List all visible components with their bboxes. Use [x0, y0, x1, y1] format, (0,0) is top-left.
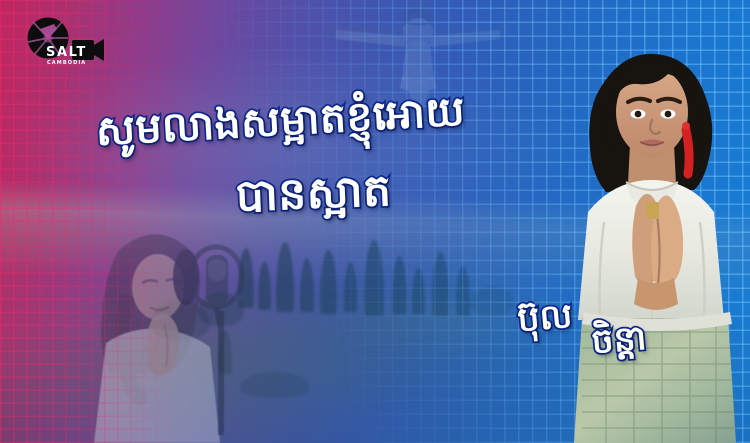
- salt-cambodia-logo[interactable]: SALT CAMBODIA: [16, 16, 116, 70]
- artist-name-line-2: ចិន្តា: [590, 316, 649, 371]
- presenter-woman-prayer-hands: [560, 26, 750, 443]
- video-thumbnail: SALT CAMBODIA សូមលាងសម្អាតខ្ញុំអោយ បានស្…: [0, 0, 750, 443]
- logo-wordmark: SALT: [46, 45, 87, 60]
- title-line-2: បានស្អាត: [235, 163, 393, 233]
- logo-subtitle: CAMBODIA: [47, 60, 86, 66]
- artist-name-line-1: ប៊ុល: [516, 294, 575, 349]
